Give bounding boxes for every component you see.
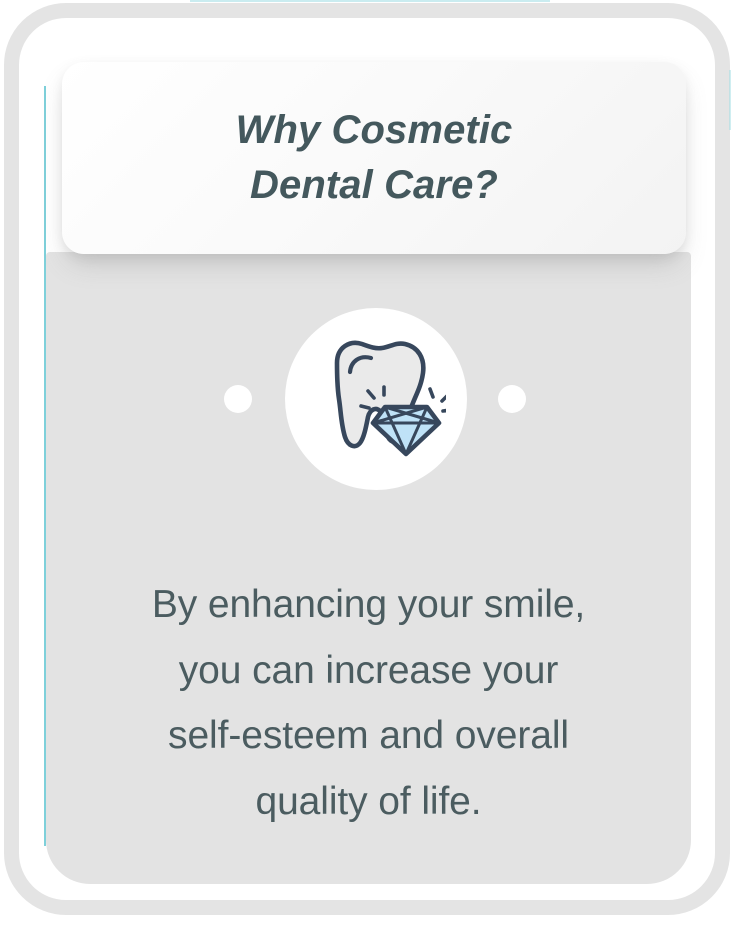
header-card: Why Cosmetic Dental Care? [62, 62, 686, 254]
tooth-with-diamond-icon [306, 335, 446, 463]
page-title: Why Cosmetic Dental Care? [236, 103, 513, 213]
body-text: By enhancing your smile, you can increas… [66, 572, 671, 834]
icon-row [46, 300, 691, 500]
icon-badge [285, 308, 467, 490]
top-teal-accent-edge [190, 0, 550, 2]
decorative-dot-left [224, 385, 252, 413]
decorative-dot-right [498, 385, 526, 413]
card-stage: Why Cosmetic Dental Care? [0, 0, 750, 930]
teal-accent-rule-right [729, 70, 731, 130]
